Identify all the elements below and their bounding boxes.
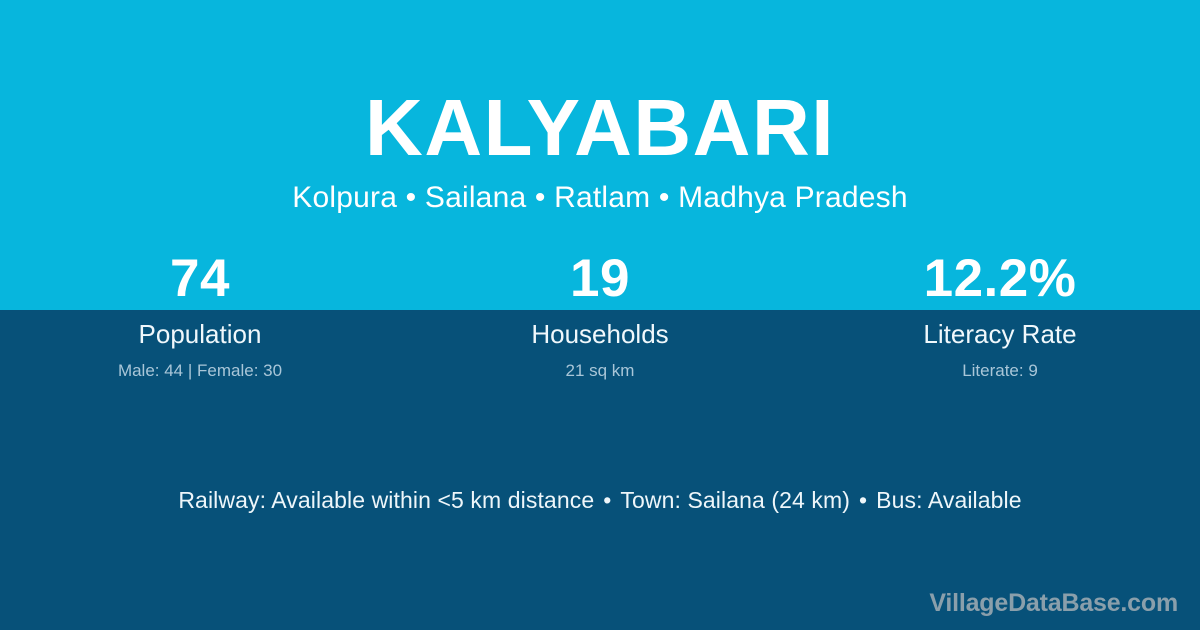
stat-literacy-rate: 12.2% Literacy Rate Literate: 9	[800, 248, 1200, 383]
site-watermark: VillageDataBase.com	[929, 588, 1178, 618]
stat-population-label: Population	[0, 317, 400, 351]
stat-households-area: 21 sq km	[400, 359, 800, 383]
amenity-railway: Railway: Available within <5 km distance	[178, 487, 594, 513]
stat-households-value: 19	[400, 248, 800, 310]
stat-population-value: 74	[0, 248, 400, 310]
page-title: KALYABARI	[0, 88, 1200, 168]
amenity-separator-icon-2: •	[850, 484, 876, 516]
stat-literacy-count: Literate: 9	[800, 359, 1200, 383]
stat-literacy-rate-value: 12.2%	[800, 248, 1200, 310]
stat-population-breakdown: Male: 44 | Female: 30	[0, 359, 400, 383]
stat-literacy-rate-label: Literacy Rate	[800, 317, 1200, 351]
breadcrumb: Kolpura • Sailana • Ratlam • Madhya Prad…	[0, 180, 1200, 216]
village-info-card: KALYABARI Kolpura • Sailana • Ratlam • M…	[0, 0, 1200, 630]
stat-population: 74 Population Male: 44 | Female: 30	[0, 248, 400, 383]
stat-households: 19 Households 21 sq km	[400, 248, 800, 383]
stat-households-label: Households	[400, 317, 800, 351]
amenity-bus: Bus: Available	[876, 487, 1021, 513]
amenity-separator-icon-1: •	[594, 484, 620, 516]
amenity-town: Town: Sailana (24 km)	[620, 487, 850, 513]
amenities-line: Railway: Available within <5 km distance…	[0, 484, 1200, 516]
stats-row: 74 Population Male: 44 | Female: 30 19 H…	[0, 248, 1200, 383]
